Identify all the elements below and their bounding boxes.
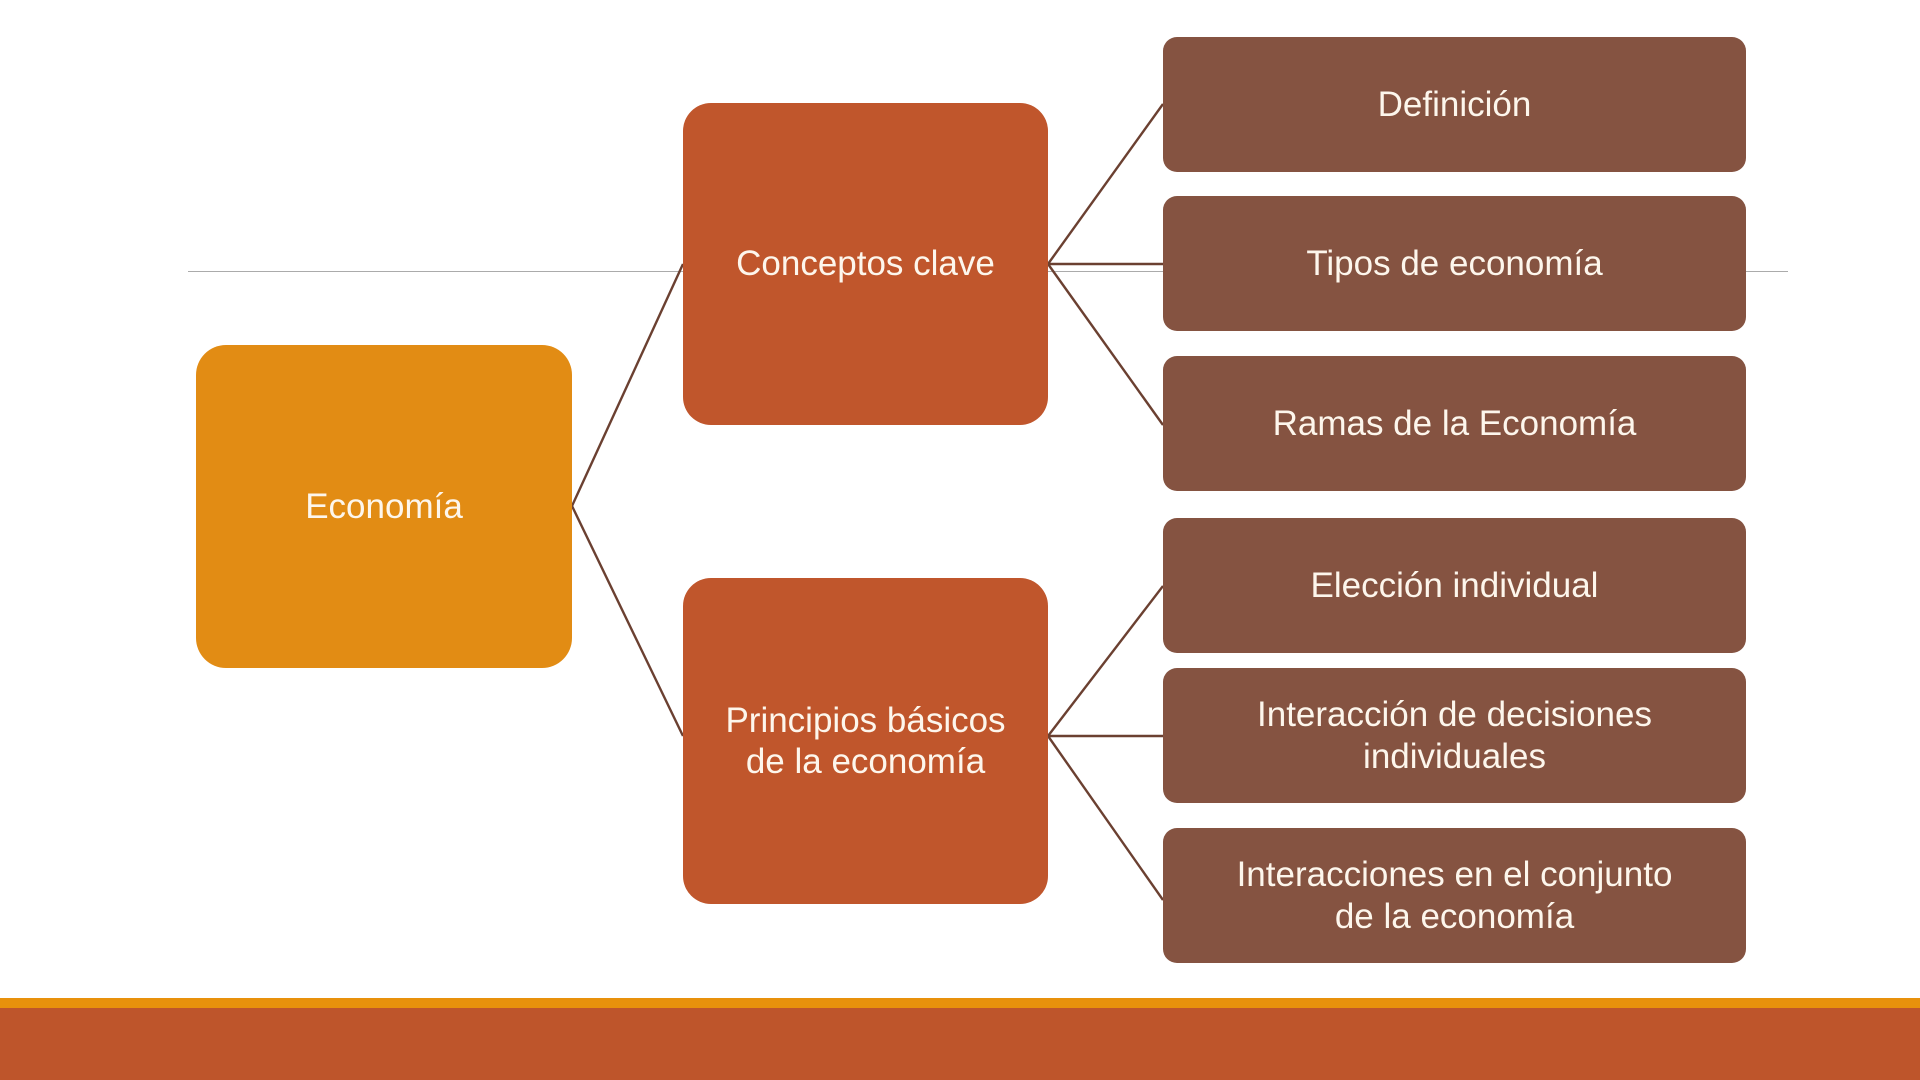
node-leaf-interacciones-line1: Interacciones en el conjunto	[1237, 855, 1673, 894]
node-root-label: Economía	[305, 486, 463, 527]
node-leaf-interacciones-line2: de la economía	[1335, 897, 1574, 936]
footer-band	[0, 1008, 1920, 1080]
connector-conceptos-to-ramas	[1048, 264, 1163, 425]
node-leaf-definicion[interactable]: Definición	[1163, 37, 1746, 172]
footer-accent-stripe	[0, 998, 1920, 1008]
connector-principios-to-eleccion	[1048, 586, 1163, 736]
connector-conceptos-to-definicion	[1048, 104, 1163, 264]
node-leaf-tipos-de-economia[interactable]: Tipos de economía	[1163, 196, 1746, 331]
node-leaf-interaccion-line1: Interacción de decisiones	[1257, 695, 1652, 734]
node-leaf-tipos-label: Tipos de economía	[1306, 243, 1602, 284]
node-leaf-eleccion-label: Elección individual	[1311, 565, 1599, 606]
node-leaf-ramas-de-la-economia[interactable]: Ramas de la Economía	[1163, 356, 1746, 491]
node-branch-principios-line2: de la economía	[746, 742, 985, 781]
node-leaf-ramas-label: Ramas de la Economía	[1273, 403, 1637, 444]
node-leaf-eleccion-individual[interactable]: Elección individual	[1163, 518, 1746, 653]
node-leaf-interacciones-label: Interacciones en el conjunto de la econo…	[1237, 854, 1673, 937]
node-leaf-interacciones-conjunto[interactable]: Interacciones en el conjunto de la econo…	[1163, 828, 1746, 963]
connector-principios-to-interacciones	[1048, 736, 1163, 900]
node-branch-principios-basicos[interactable]: Principios básicos de la economía	[683, 578, 1048, 904]
node-branch-principios-line1: Principios básicos	[725, 701, 1005, 740]
connector-root-to-conceptos	[572, 264, 683, 506]
node-leaf-interaccion-decisiones[interactable]: Interacción de decisiones individuales	[1163, 668, 1746, 803]
node-leaf-interaccion-line2: individuales	[1363, 737, 1546, 776]
node-leaf-interaccion-label: Interacción de decisiones individuales	[1257, 694, 1652, 777]
node-leaf-definicion-label: Definición	[1378, 84, 1532, 125]
node-branch-principios-label: Principios básicos de la economía	[725, 700, 1005, 783]
node-branch-conceptos-clave[interactable]: Conceptos clave	[683, 103, 1048, 425]
node-root-economia[interactable]: Economía	[196, 345, 572, 668]
connector-root-to-principios	[572, 506, 683, 736]
slide-canvas: Economía Conceptos clave Principios bási…	[0, 0, 1920, 1080]
node-branch-conceptos-label: Conceptos clave	[736, 243, 995, 284]
